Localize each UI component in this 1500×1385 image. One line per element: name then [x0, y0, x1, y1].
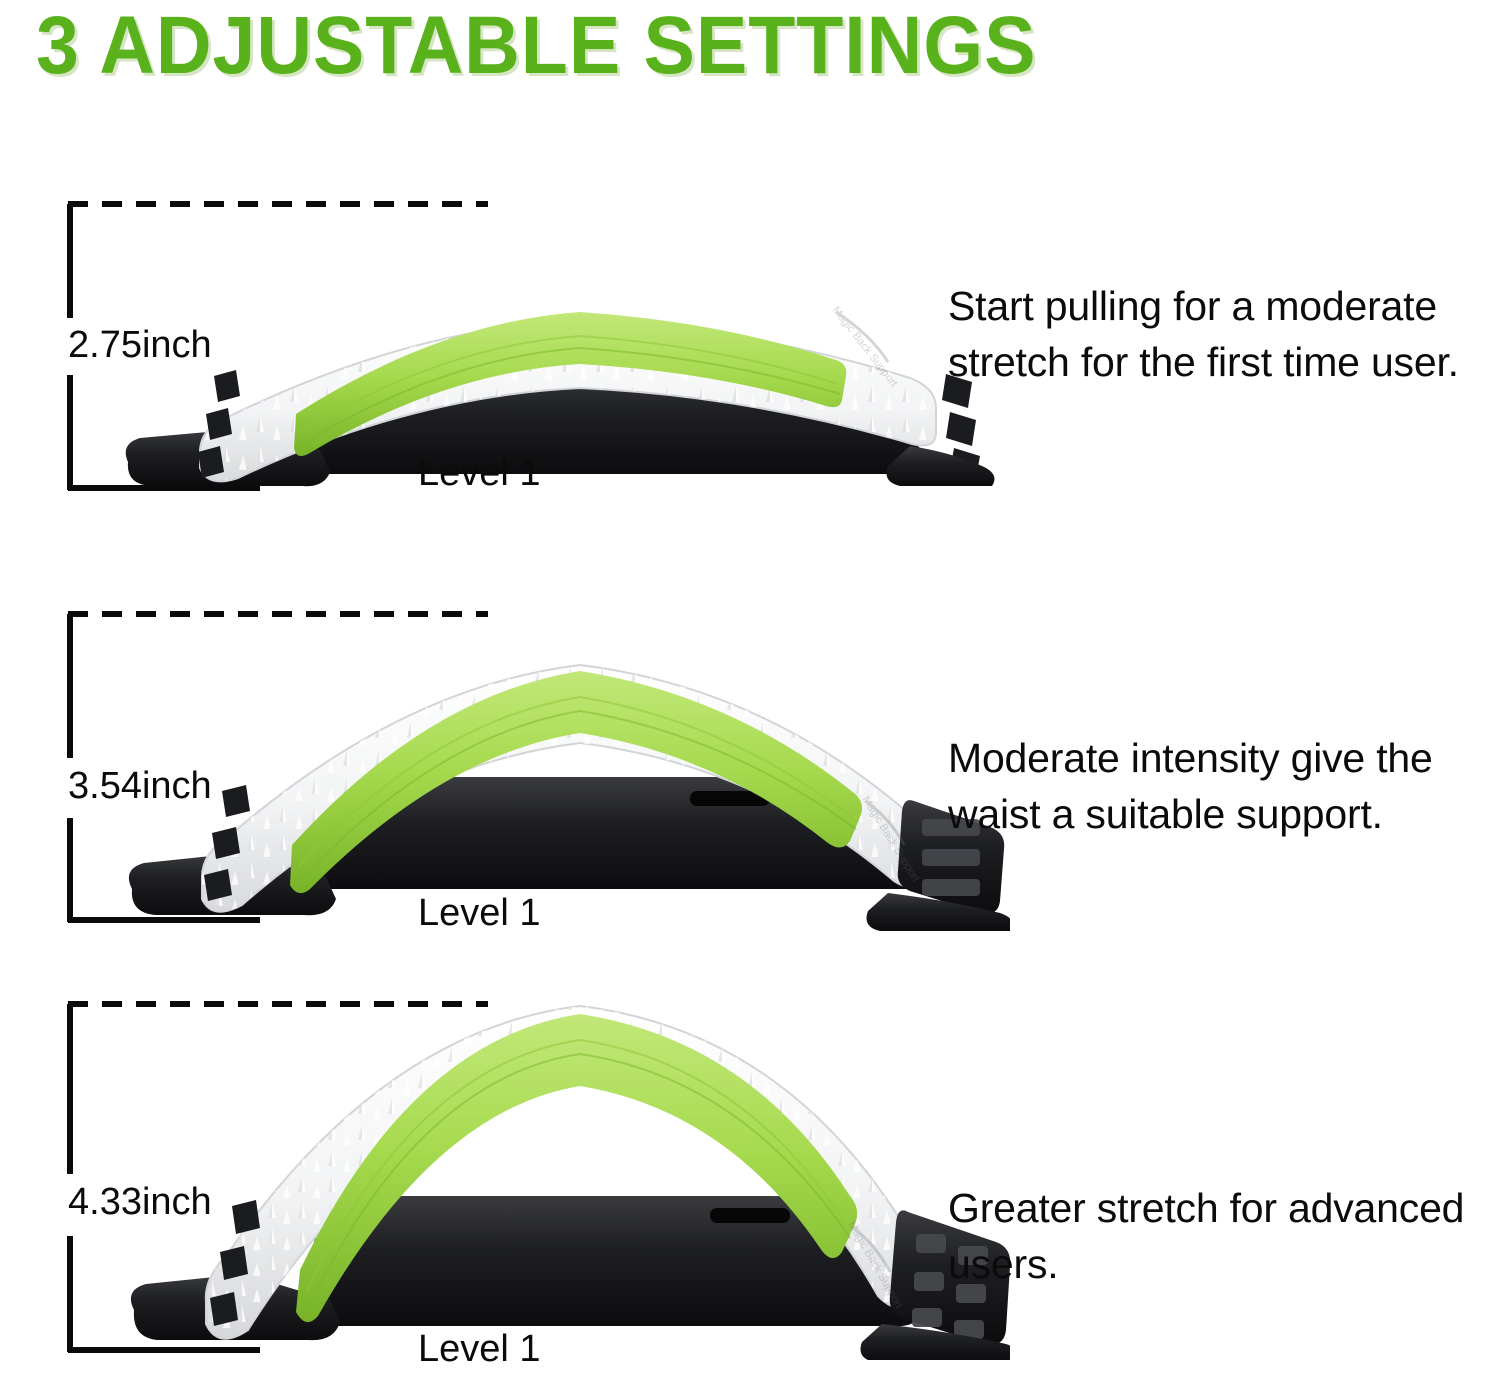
level-label-2: Level 1 — [418, 892, 541, 934]
base-vent-slot — [710, 1208, 790, 1223]
setting-row-2: 3.54inch — [0, 600, 1500, 945]
product-image-level-1: Magic Back Support — [110, 200, 1010, 505]
level-label-1: Level 1 — [418, 452, 541, 494]
description-text-3: Greater stretch for advanced users. — [948, 1180, 1500, 1292]
description-text-1: Start pulling for a moderate stretch for… — [948, 278, 1500, 390]
description-text-2: Moderate intensity give the waist a suit… — [948, 730, 1500, 842]
back-stretcher-low-arch-svg: Magic Back Support — [110, 200, 1010, 500]
setting-row-1: 2.75inch — [0, 190, 1500, 520]
page-title: 3 ADJUSTABLE SETTINGS — [36, 0, 1036, 94]
back-stretcher-medium-arch-svg: Magic Back Support — [110, 605, 1010, 935]
back-stretcher-high-arch-svg: Magic Back Support — [110, 990, 1010, 1360]
product-image-level-3: Magic Back Support — [110, 990, 1010, 1365]
level-label-3: Level 1 — [418, 1328, 541, 1370]
setting-row-3: 4.33inch — [0, 990, 1500, 1380]
infographic-page: 3 ADJUSTABLE SETTINGS 2.75inch — [0, 0, 1500, 1385]
product-image-level-2: Magic Back Support — [110, 605, 1010, 940]
